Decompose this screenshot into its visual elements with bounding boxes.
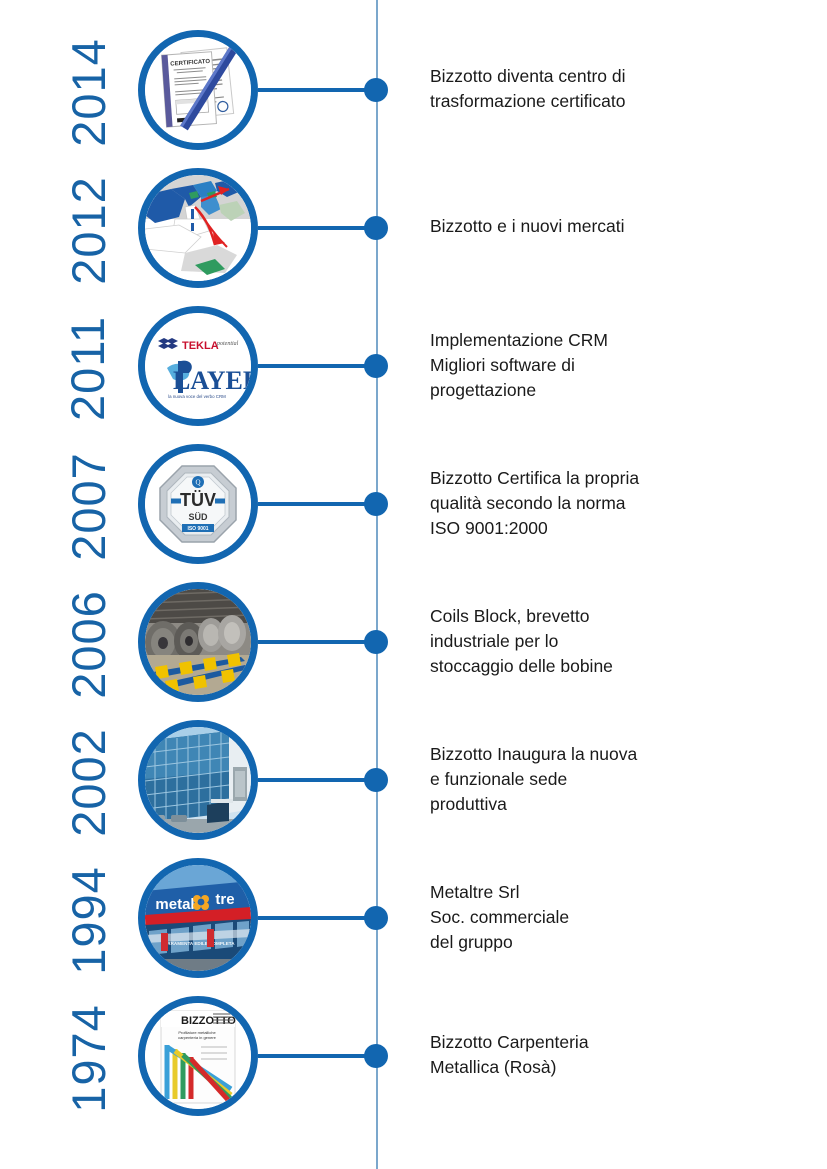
bizzotto-brochure-icon: BIZZOTTO Profilature metalliche carpente…	[145, 1003, 251, 1109]
event-description: Bizzotto Certifica la propria qualità se…	[430, 466, 760, 541]
event-badge-2006[interactable]	[138, 582, 258, 702]
connector-line	[258, 88, 380, 92]
svg-text:ISO 9001: ISO 9001	[187, 526, 208, 532]
tekla-player-logo-icon: TEKLA potential LAYER la nuova voce del …	[145, 313, 251, 419]
certificate-document-icon: CERTIFICATO	[145, 37, 251, 143]
timeline-row[interactable]: 2011 TEKLA potential LAYER	[0, 300, 827, 436]
svg-text:metal: metal	[155, 896, 194, 913]
event-description: Bizzotto Inaugura la nuova e funzionale …	[430, 742, 760, 817]
svg-text:carpenteria in genere: carpenteria in genere	[178, 1035, 217, 1040]
connector-line	[258, 1054, 380, 1058]
timeline-row[interactable]: 2002	[0, 714, 827, 850]
year-label: 1994	[20, 852, 156, 988]
timeline-row[interactable]: 2012	[0, 162, 827, 298]
event-description: Bizzotto diventa centro di trasformazion…	[430, 64, 760, 114]
svg-text:Q: Q	[195, 479, 200, 487]
connector-line	[258, 502, 380, 506]
timeline-dot[interactable]	[364, 78, 388, 102]
steel-coils-warehouse-icon	[145, 589, 251, 695]
timeline-row[interactable]: 2006	[0, 576, 827, 712]
glass-office-building-icon	[145, 727, 251, 833]
metaltre-storefront-icon: metal tre	[145, 865, 251, 971]
tuv-sud-iso9001-badge-icon: Q TÜV SÜD ISO 9001	[145, 451, 251, 557]
year-label: 2012	[20, 162, 156, 298]
event-description: Bizzotto e i nuovi mercati	[430, 214, 760, 239]
svg-text:la nuova voce del verbo CRM: la nuova voce del verbo CRM	[168, 394, 226, 399]
year-label: 1974	[20, 990, 156, 1126]
svg-text:TEKLA: TEKLA	[182, 340, 219, 352]
svg-text:FERRAMENTA EDILE COMPLETA: FERRAMENTA EDILE COMPLETA	[161, 941, 235, 946]
timeline-dot[interactable]	[364, 630, 388, 654]
event-badge-2002[interactable]	[138, 720, 258, 840]
timeline-row[interactable]: 2007 Q TÜV SÜD	[0, 438, 827, 574]
year-label: 2006	[20, 576, 156, 712]
europe-map-icon	[145, 175, 251, 281]
svg-text:tre: tre	[215, 891, 234, 908]
year-label: 2007	[20, 438, 156, 574]
event-badge-2007[interactable]: Q TÜV SÜD ISO 9001	[138, 444, 258, 564]
event-badge-2014[interactable]: CERTIFICATO	[138, 30, 258, 150]
event-badge-2012[interactable]	[138, 168, 258, 288]
timeline-row[interactable]: 1974 BIZZOTTO Profilature metalliche car…	[0, 990, 827, 1126]
event-description: Metaltre Srl Soc. commerciale del gruppo	[430, 880, 760, 955]
year-label: 2014	[20, 24, 156, 160]
event-description: Coils Block, brevetto industriale per lo…	[430, 604, 760, 679]
timeline-dot[interactable]	[364, 492, 388, 516]
timeline-dot[interactable]	[364, 216, 388, 240]
timeline-dot[interactable]	[364, 906, 388, 930]
event-badge-2011[interactable]: TEKLA potential LAYER la nuova voce del …	[138, 306, 258, 426]
timeline-dot[interactable]	[364, 768, 388, 792]
connector-line	[258, 364, 380, 368]
svg-text:TÜV: TÜV	[180, 490, 216, 510]
timeline-row[interactable]: 1994 metal tre	[0, 852, 827, 988]
event-description: Implementazione CRM Migliori software di…	[430, 328, 760, 403]
connector-line	[258, 640, 380, 644]
timeline-row[interactable]: 2014	[0, 24, 827, 160]
connector-line	[258, 916, 380, 920]
year-label: 2011	[20, 300, 156, 436]
timeline-dot[interactable]	[364, 354, 388, 378]
year-label: 2002	[20, 714, 156, 850]
event-description: Bizzotto Carpenteria Metallica (Rosà)	[430, 1030, 760, 1080]
event-badge-1994[interactable]: metal tre	[138, 858, 258, 978]
svg-text:potential: potential	[216, 341, 239, 347]
svg-text:SÜD: SÜD	[188, 512, 208, 522]
timeline-dot[interactable]	[364, 1044, 388, 1068]
event-badge-1974[interactable]: BIZZOTTO Profilature metalliche carpente…	[138, 996, 258, 1116]
connector-line	[258, 778, 380, 782]
connector-line	[258, 226, 380, 230]
timeline-infographic: 2014	[0, 0, 827, 1169]
